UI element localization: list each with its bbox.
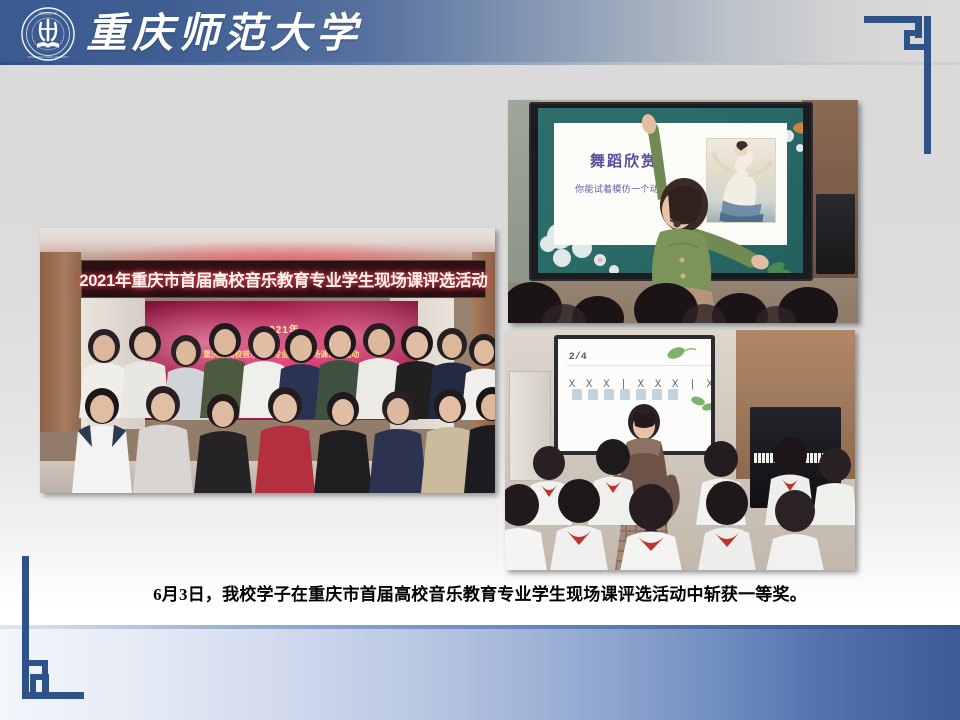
decorative-corner-bracket-bottom-left-icon: [14, 552, 110, 712]
presentation-slide: 重庆师范大学 CHONGQING NORMAL UNIVERSITY 重庆师范大…: [0, 0, 960, 720]
dance-appreciation-lesson-photo: 舞蹈欣赏 你能试着模仿一个动作吗: [508, 100, 858, 323]
svg-text:重庆师范大学: 重庆师范大学: [39, 11, 57, 16]
group-photo-people: [40, 228, 495, 493]
header-underline: [0, 62, 960, 65]
audience-silhouettes: [508, 274, 858, 323]
slide-caption: 6月3日，我校学子在重庆市首届高校音乐教育专业学生现场课评选活动中斩获一等奖。: [0, 580, 960, 605]
students-group: [505, 431, 855, 570]
decorative-corner-bracket-top-right-icon: [842, 8, 938, 163]
group-photo-award-ceremony: 2021年重庆市首届高校音乐教育专业学生现场课评选活动 2021年 重庆市高校音…: [40, 228, 495, 493]
university-emblem-icon: 重庆师范大学 CHONGQING NORMAL UNIVERSITY: [20, 6, 76, 62]
footer-band: [0, 629, 960, 720]
svg-text:CHONGQING NORMAL UNIVERSITY: CHONGQING NORMAL UNIVERSITY: [28, 56, 69, 59]
university-name-wordmark: 重庆师范大学: [86, 4, 362, 62]
music-classroom-lesson-photo: 2/4 X X X | X X X | X X X X | X — |: [505, 330, 855, 570]
